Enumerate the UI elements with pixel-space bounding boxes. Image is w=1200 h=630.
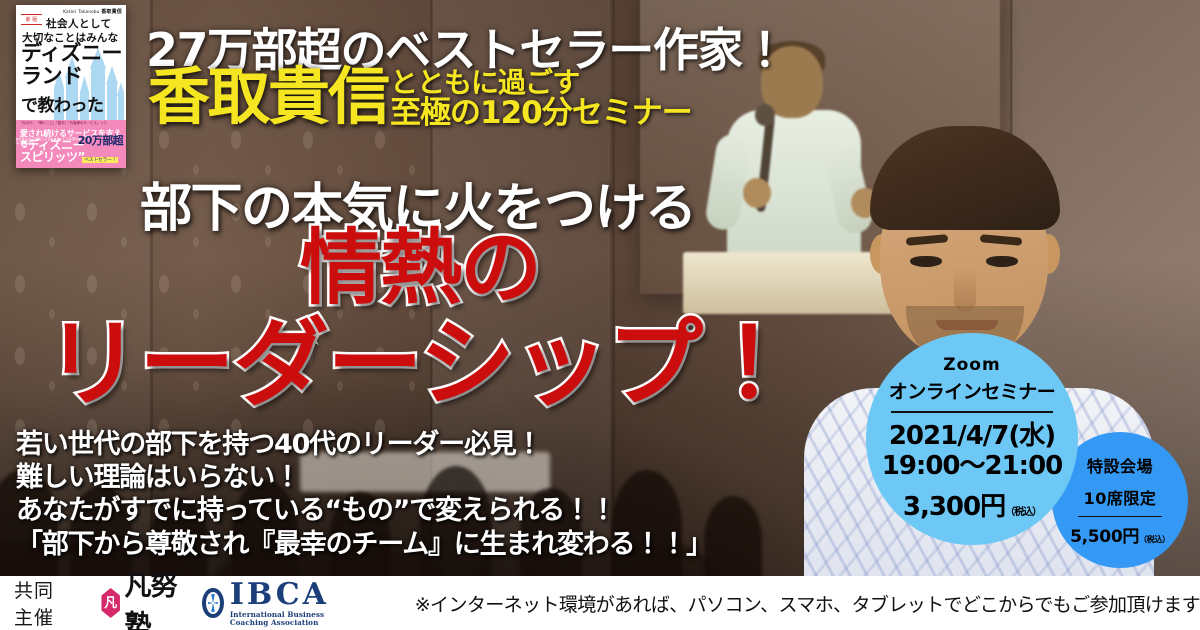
ibca-wheel-icon — [202, 588, 224, 618]
zoom-date: 2021/4/7(水) — [889, 421, 1055, 452]
headline-name-side-2: 至極の120分セミナー — [390, 97, 692, 130]
footer-bar: 共同主催 凡 凡努塾 IBCA International Business C… — [0, 576, 1200, 630]
hexagon-icon-glyph: 凡 — [104, 597, 117, 610]
book-cover-top: Katori Takanobu 香取貴信 新 版 社会人として 大切なことはみん… — [16, 5, 126, 120]
seminar-banner: Katori Takanobu 香取貴信 新 版 社会人として 大切なことはみん… — [0, 0, 1200, 630]
book-title-line-1: 社会人として — [46, 16, 112, 31]
bullet-item: あなたがすでに持っている“もの”で変えられる！！ — [16, 494, 712, 527]
zoom-title: Zoom — [943, 355, 1000, 375]
sponsor2-subtitle: International Business Coaching Associat… — [230, 611, 363, 625]
book-band-sub: ベストセラー！ — [82, 157, 118, 163]
venue-price-row: 5,500円（税込） — [1070, 522, 1170, 547]
headline-red-line-1: 情熱の — [0, 228, 840, 310]
zoom-price-note: （税込） — [1005, 507, 1041, 518]
speaker-name: 香取貴信 — [148, 66, 388, 128]
zoom-price: 3,300円 — [903, 492, 1005, 522]
zoom-time: 19:00〜21:00 — [882, 451, 1063, 482]
headline-name-side-1: とともに過ごす — [390, 68, 692, 97]
book-edition-badge: 新 版 — [21, 14, 42, 25]
bullet-item: 「部下から尊敬され『最幸のチーム』に生まれ変わる！！」 — [16, 528, 712, 561]
book-title-line-4: ランド — [21, 67, 83, 87]
book-cover: Katori Takanobu 香取貴信 新 版 社会人として 大切なことはみん… — [16, 5, 126, 168]
book-title-line-3: ディズニー — [21, 44, 122, 64]
zoom-price-row: 3,300円（税込） — [903, 486, 1041, 523]
venue-price: 5,500円 — [1070, 527, 1139, 547]
book-band-number: 20万部超 — [78, 135, 123, 146]
sponsor-logo-ibca: IBCA International Business Coaching Ass… — [202, 580, 362, 625]
headline-name-row: 香取貴信 とともに過ごす 至極の120分セミナー — [148, 66, 692, 130]
bullet-list: 若い世代の部下を持つ40代のリーダー必見！ 難しい理論はいらない！ あなたがすで… — [16, 428, 712, 561]
book-cover-band: 「なぜか、「稼ぐこと」「数字」「お客様のサービス」って 愛され続けるサービスを支… — [16, 120, 126, 168]
book-band-top-text: 「なぜか、「稼ぐこと」「数字」「お客様のサービス」って — [19, 122, 123, 126]
book-author-line: Katori Takanobu 香取貴信 — [63, 8, 122, 15]
zoom-divider — [891, 411, 1053, 413]
venue-price-note: （税込） — [1139, 535, 1170, 544]
hexagon-icon: 凡 — [100, 588, 122, 618]
footer-note: ※インターネット環境があれば、パソコン、スマホ、タブレットでどこからでもご参加頂… — [415, 590, 1200, 617]
book-band-number-block: 20万部超 ベストセラー！ — [78, 135, 123, 165]
ibca-text-block: IBCA International Business Coaching Ass… — [230, 580, 363, 625]
zoom-info-circle: Zoom オンラインセミナー 2021/4/7(水) 19:00〜21:00 3… — [866, 333, 1078, 545]
venue-subtitle: 10席限定 — [1084, 485, 1157, 509]
book-title-line-5: で教わった — [21, 91, 104, 116]
audience-silhouette — [704, 496, 762, 576]
bullet-item: 難しい理論はいらない！ — [16, 461, 712, 494]
cohost-label: 共同主催 — [14, 576, 72, 630]
book-band-line-3: スピリッツ” — [20, 151, 85, 163]
sponsor-logo-bondojuku: 凡 凡努塾 — [100, 564, 180, 630]
headline-red-line-2: リーダーシップ！ — [0, 314, 840, 415]
venue-divider — [1078, 516, 1162, 518]
venue-title: 特設会場 — [1087, 453, 1153, 477]
headline-red-block: 情熱の リーダーシップ！ — [0, 228, 840, 415]
headline-name-side: とともに過ごす 至極の120分セミナー — [390, 68, 692, 130]
sponsor1-name: 凡努塾 — [124, 564, 180, 630]
bullet-item: 若い世代の部下を持つ40代のリーダー必見！ — [16, 428, 712, 461]
sponsor2-name: IBCA — [230, 580, 363, 610]
zoom-subtitle: オンラインセミナー — [889, 377, 1056, 404]
